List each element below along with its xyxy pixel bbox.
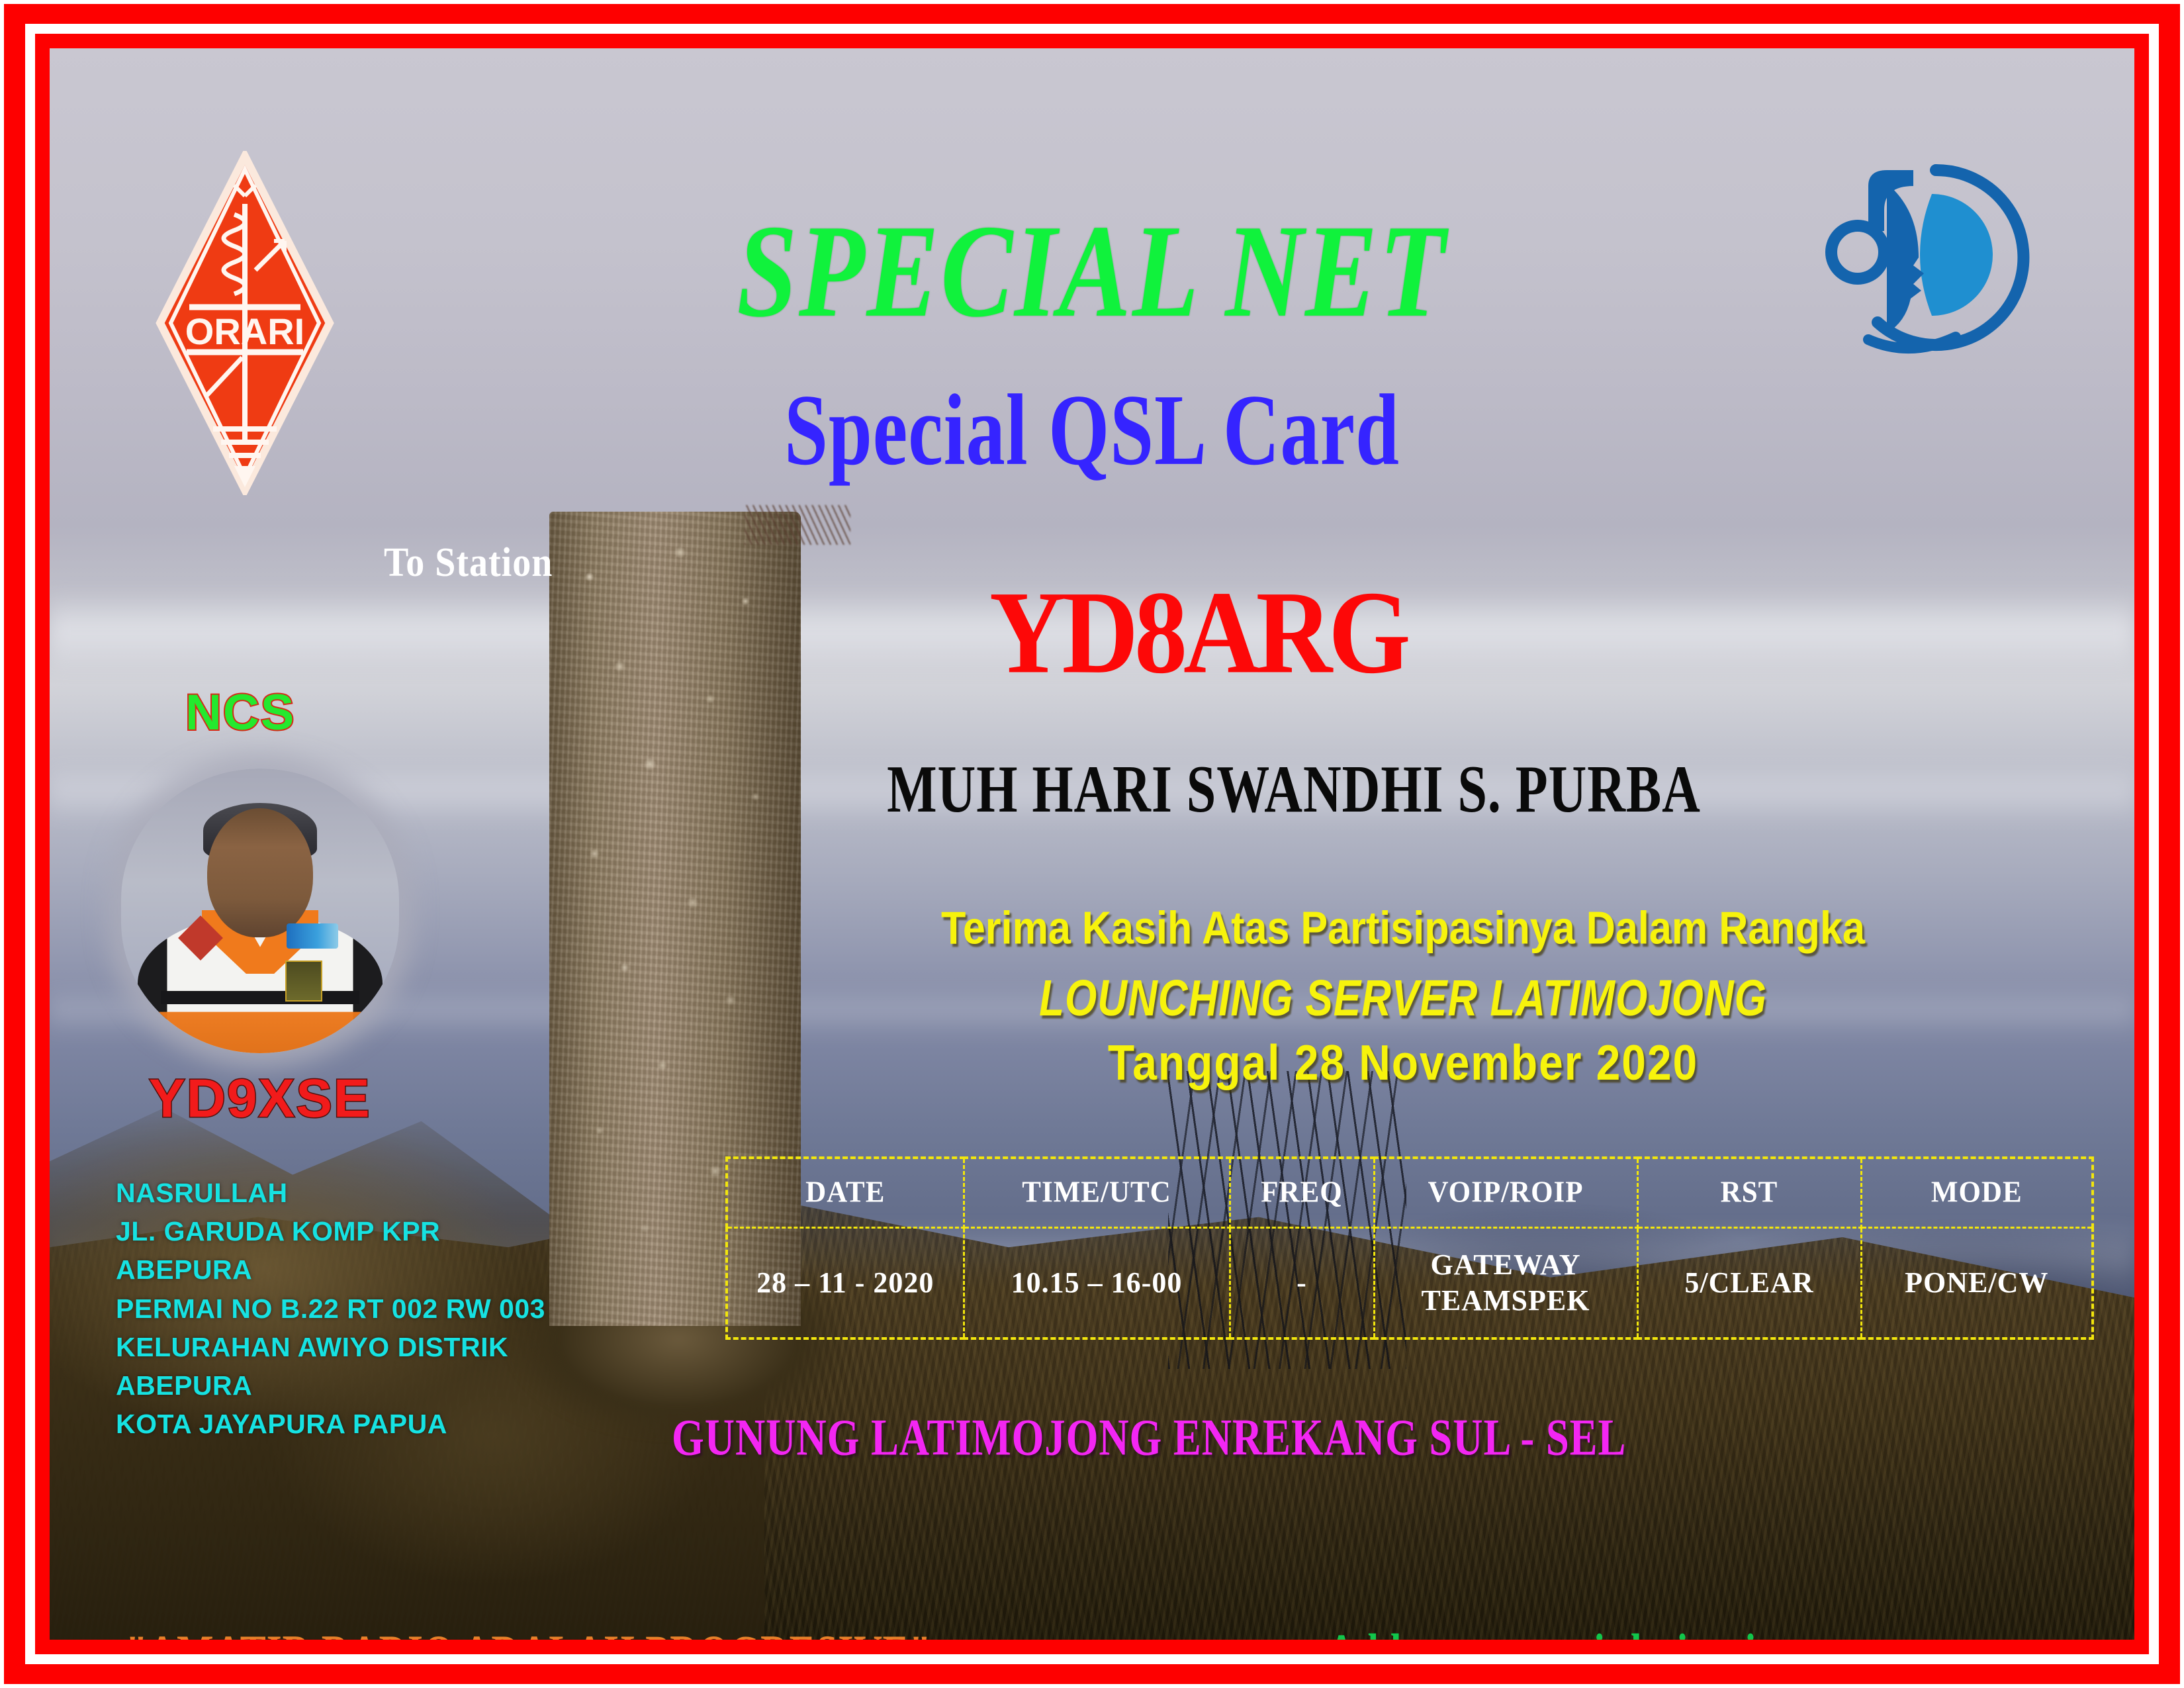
event-location: GUNUNG LATIMOJONG ENREKANG SUL - SEL <box>672 1409 1866 1468</box>
web-address: Address : amatir.latimojong.com <box>1327 1622 1903 1640</box>
table-row: 28 – 11 - 2020 10.15 – 16-00 - GATEWAY T… <box>727 1227 2093 1338</box>
cell-mode: PONE/CW <box>1861 1227 2093 1338</box>
address-line: ABEPURA <box>116 1250 545 1289</box>
address-line: KELURAHAN AWIYO DISTRIK <box>116 1328 545 1366</box>
page-subtitle: Special QSL Card <box>113 373 2072 489</box>
column-header-date: DATE <box>727 1156 964 1229</box>
cell-voip-roip: GATEWAY TEAMSPEK <box>1374 1227 1637 1338</box>
qso-log-table: DATE TIME/UTC FREQ VOIP/ROIP RST MODE 28… <box>725 1156 2094 1340</box>
address-line: PERMAI NO B.22 RT 002 RW 003 <box>116 1289 545 1328</box>
column-header-rst: RST <box>1637 1156 1861 1229</box>
operator-name: MUH HARI SWANDHI S. PURBA <box>764 750 1823 828</box>
event-date-line: Tanggal 28 November 2020 <box>745 1035 2062 1092</box>
ncs-callsign: YD9XSE <box>149 1068 371 1130</box>
avatar-badge-right <box>287 923 338 949</box>
address-line: NASRULLAH <box>116 1174 545 1212</box>
cell-rst: 5/CLEAR <box>1637 1227 1861 1338</box>
card-photo-stage: ORARI <box>50 48 2134 1640</box>
qsl-card: ORARI <box>0 0 2184 1688</box>
event-title-line: LOUNCHING SERVER LATIMOJONG <box>766 968 2041 1027</box>
column-header-mode: MODE <box>1861 1156 2093 1229</box>
cell-time: 10.15 – 16-00 <box>964 1227 1230 1338</box>
event-thanks-line: Terima Kasih Atas Partisipasinya Dalam R… <box>745 902 2062 955</box>
cell-freq: - <box>1230 1227 1374 1338</box>
avatar <box>121 769 399 1053</box>
white-border: ORARI <box>25 24 2159 1664</box>
avatar-id-card <box>285 961 322 1002</box>
inner-red-border: ORARI <box>35 34 2149 1654</box>
ncs-role-label: NCS <box>185 684 295 741</box>
table-header-row: DATE TIME/UTC FREQ VOIP/ROIP RST MODE <box>727 1158 2093 1227</box>
column-header-freq: FREQ <box>1230 1156 1374 1229</box>
address-line: JL. GARUDA KOMP KPR <box>116 1212 545 1250</box>
to-station-label: To Station <box>384 539 553 586</box>
avatar-belt <box>161 991 359 1004</box>
cairn-top-grass <box>745 505 850 545</box>
station-callsign: YD8ARG <box>989 564 1407 701</box>
cell-date: 28 – 11 - 2020 <box>727 1227 964 1338</box>
column-header-voip-roip: VOIP/ROIP <box>1374 1156 1637 1229</box>
address-line: KOTA JAYAPURA PAPUA <box>116 1405 545 1443</box>
outer-red-border: ORARI <box>4 4 2180 1684</box>
address-line: ABEPURA <box>116 1366 545 1405</box>
mailing-address: NASRULLAH JL. GARUDA KOMP KPR ABEPURA PE… <box>116 1174 545 1444</box>
page-title: SPECIAL NET <box>91 195 2093 348</box>
column-header-time: TIME/UTC <box>964 1156 1230 1229</box>
avatar-face <box>207 808 313 937</box>
club-motto: "AMATIR RADIO ADALAH PROGRESIVE" <box>126 1624 931 1640</box>
